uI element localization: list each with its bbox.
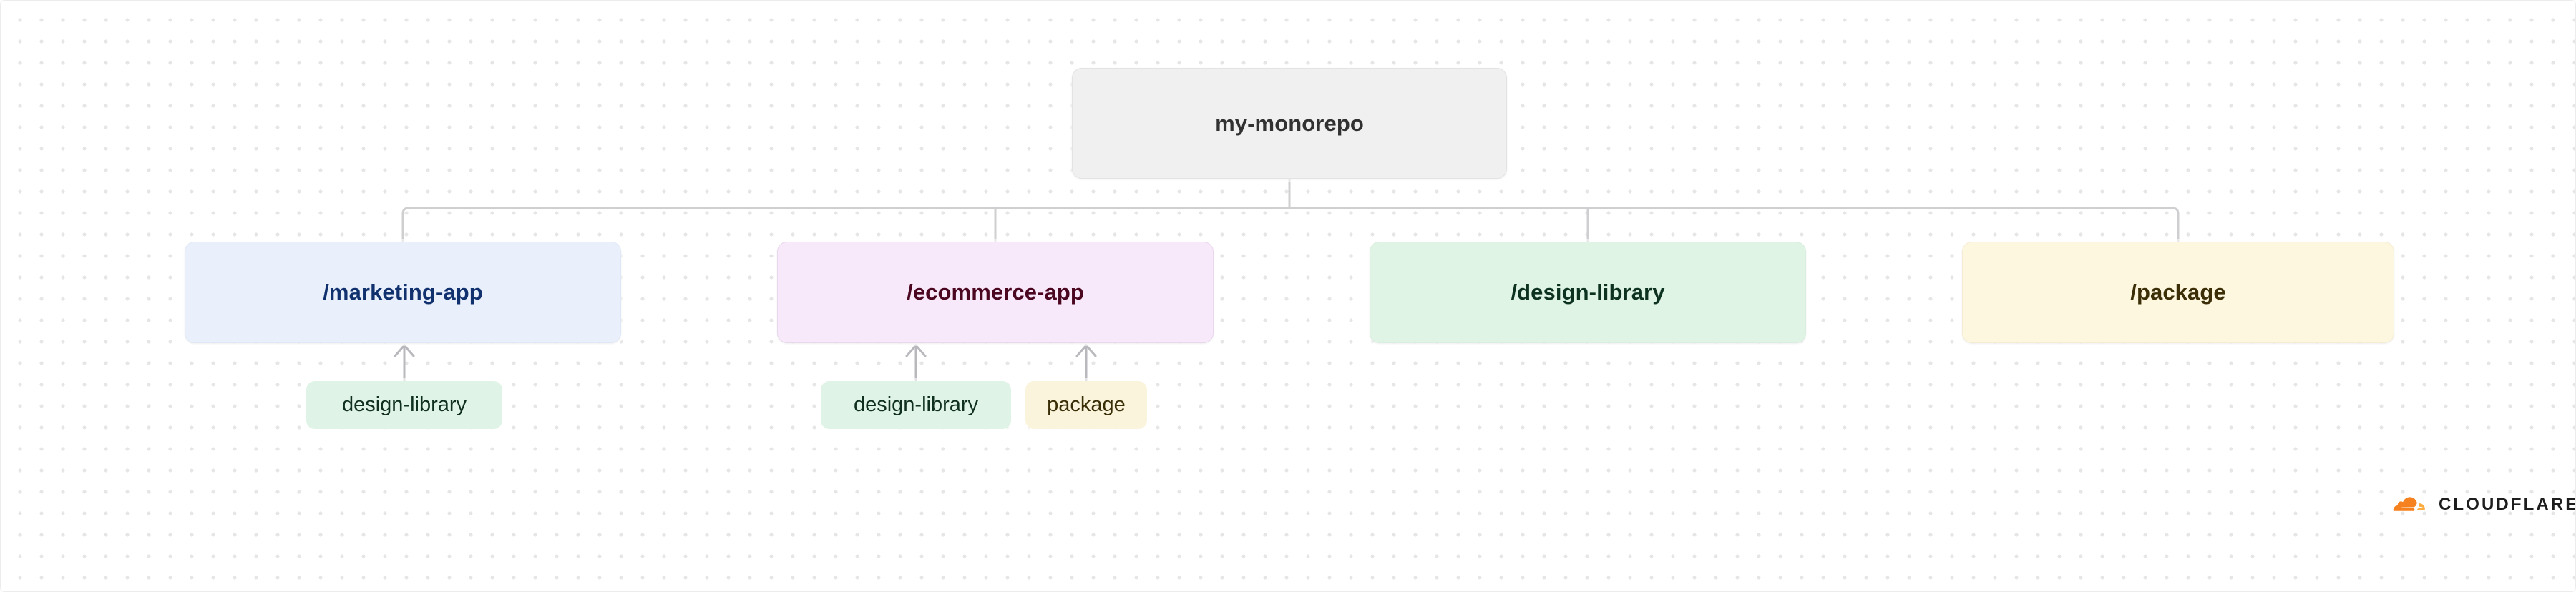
node-root-label: my-monorepo xyxy=(1215,111,1364,137)
node-marketing-app[interactable]: /marketing-app xyxy=(185,242,621,343)
cloudflare-logo: CLOUDFLARE xyxy=(2389,493,2576,517)
node-ecommerce-app-label: /ecommerce-app xyxy=(907,280,1084,305)
diagram-canvas: my-monorepo /marketing-app /ecommerce-ap… xyxy=(0,0,2576,592)
dep-chip-label: design-library xyxy=(342,393,467,417)
cloudflare-cloud-icon xyxy=(2389,493,2429,517)
node-design-library-label: /design-library xyxy=(1511,280,1664,305)
node-package-label: /package xyxy=(2130,280,2226,305)
connector-bus xyxy=(403,208,2178,242)
node-design-library[interactable]: /design-library xyxy=(1370,242,1806,343)
cloudflare-wordmark: CLOUDFLARE xyxy=(2439,495,2576,515)
dep-chip-marketing-design-library[interactable]: design-library xyxy=(306,381,502,429)
node-package[interactable]: /package xyxy=(1962,242,2394,343)
dep-chip-label: package xyxy=(1047,393,1126,417)
dep-chip-ecommerce-design-library[interactable]: design-library xyxy=(821,381,1011,429)
dep-chip-label: design-library xyxy=(854,393,978,417)
dep-arrow-head-ecommerce-package xyxy=(1077,345,1096,356)
dep-chip-ecommerce-package[interactable]: package xyxy=(1025,381,1147,429)
dep-arrow-head-ecommerce-design-library xyxy=(907,345,925,356)
node-marketing-app-label: /marketing-app xyxy=(323,280,483,305)
dep-arrow-head-marketing-design-library xyxy=(395,345,414,356)
node-ecommerce-app[interactable]: /ecommerce-app xyxy=(777,242,1214,343)
node-root-my-monorepo[interactable]: my-monorepo xyxy=(1072,68,1507,179)
